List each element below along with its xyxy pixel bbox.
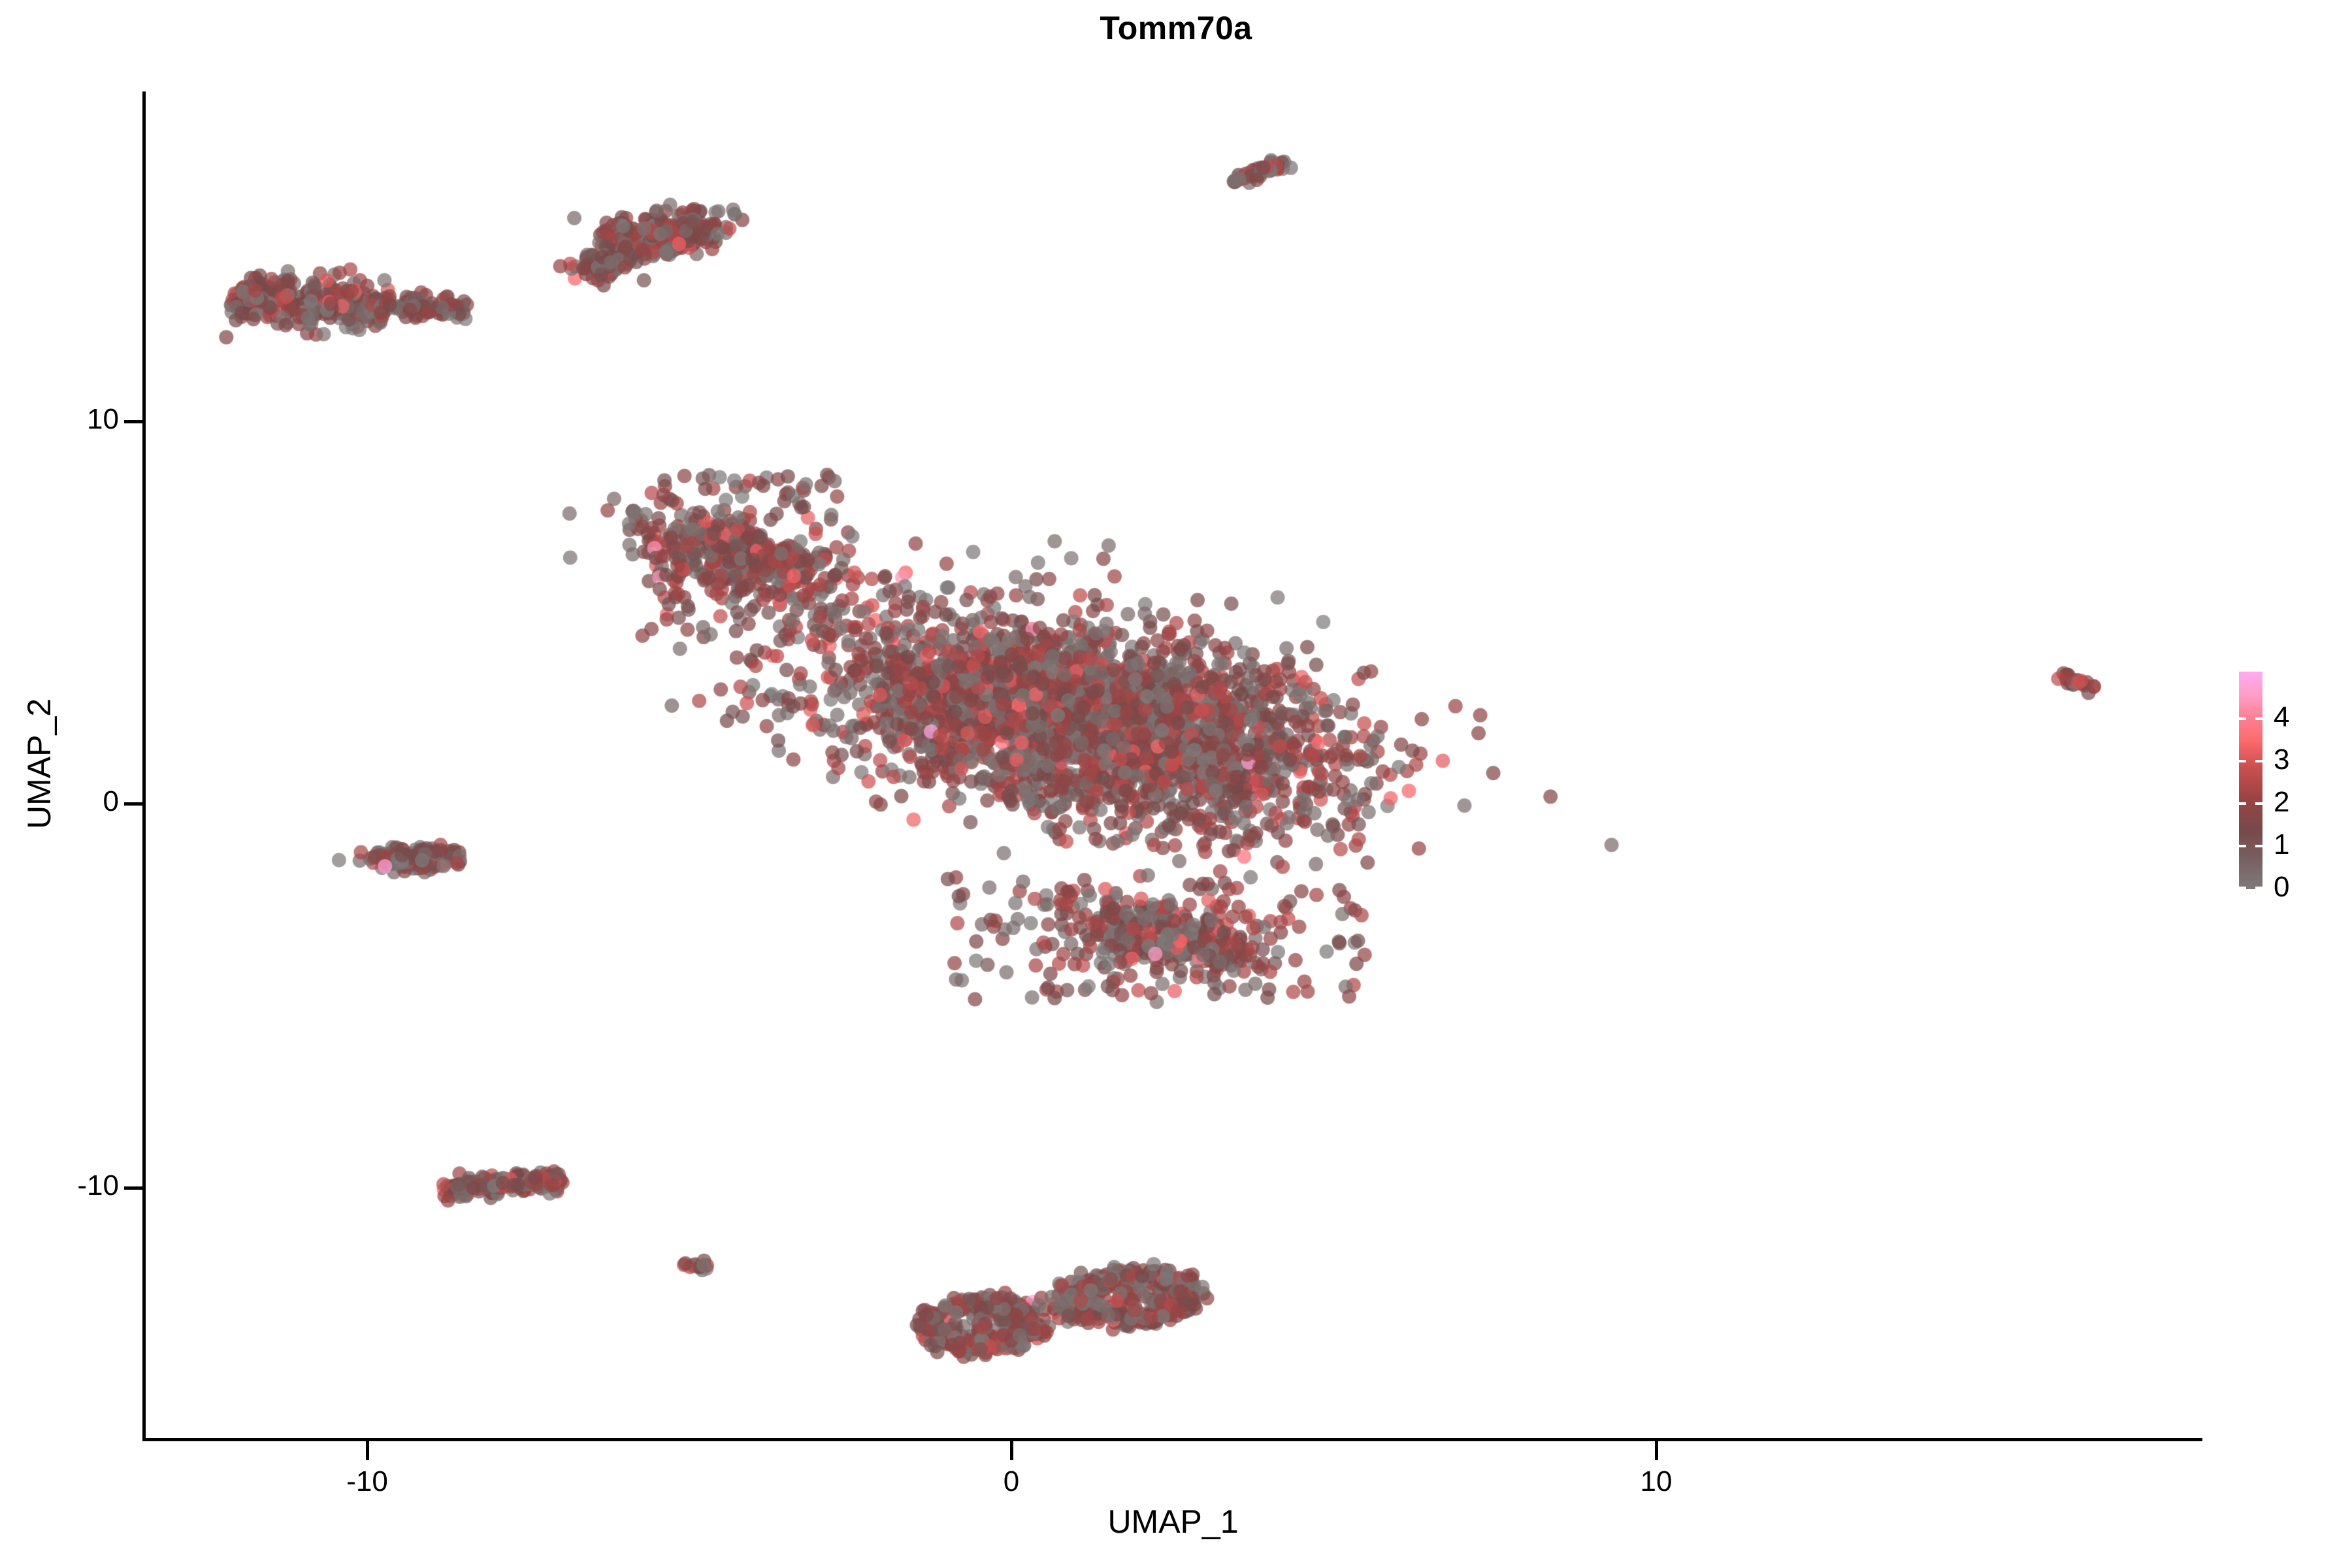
colorbar-tick-2-left — [2239, 802, 2246, 805]
colorbar-label-0: 0 — [2274, 873, 2289, 902]
y-axis-line — [142, 91, 146, 1441]
plot-panel — [144, 91, 2202, 1439]
colorbar-tick-0-right — [2255, 887, 2262, 889]
figure-root: Tomm70a 10 0 -10 -10 0 10 UMAP_1 UMAP_2 … — [0, 0, 2352, 1568]
colorbar-legend: 4 3 2 1 0 — [2234, 666, 2345, 902]
colorbar-tick-2-right — [2255, 802, 2262, 805]
colorbar-label-3: 3 — [2274, 745, 2289, 774]
y-tick-mark-10 — [124, 420, 143, 423]
colorbar-tick-3-right — [2255, 760, 2262, 762]
x-tick-label-minus10: -10 — [302, 1465, 433, 1498]
y-tick-label-0: 0 — [103, 785, 119, 818]
colorbar-gradient — [2239, 672, 2262, 889]
x-tick-label-10: 10 — [1591, 1465, 1722, 1498]
colorbar-label-2: 2 — [2274, 788, 2289, 817]
y-tick-mark-minus10 — [124, 1186, 143, 1190]
page-title: Tomm70a — [0, 9, 2352, 47]
x-tick-label-0: 0 — [946, 1465, 1077, 1498]
colorbar-label-1: 1 — [2274, 830, 2289, 859]
x-tick-mark-10 — [1655, 1441, 1658, 1460]
y-tick-label-minus10: -10 — [77, 1169, 119, 1202]
y-tick-mark-0 — [124, 802, 143, 806]
x-axis-title: UMAP_1 — [144, 1503, 2202, 1541]
x-axis-line — [142, 1438, 2202, 1441]
colorbar-label-4: 4 — [2274, 703, 2289, 732]
colorbar-tick-3-left — [2239, 760, 2246, 762]
scatter-plot-canvas — [144, 91, 2202, 1439]
colorbar-tick-0-left — [2239, 887, 2246, 889]
colorbar-tick-4-left — [2239, 717, 2246, 720]
x-tick-mark-0 — [1010, 1441, 1013, 1460]
y-axis-title: UMAP_2 — [20, 568, 58, 960]
y-tick-label-10: 10 — [87, 403, 119, 436]
colorbar-tick-4-right — [2255, 717, 2262, 720]
colorbar-tick-1-left — [2239, 845, 2246, 847]
colorbar-tick-1-right — [2255, 845, 2262, 847]
x-tick-mark-minus10 — [366, 1441, 369, 1460]
